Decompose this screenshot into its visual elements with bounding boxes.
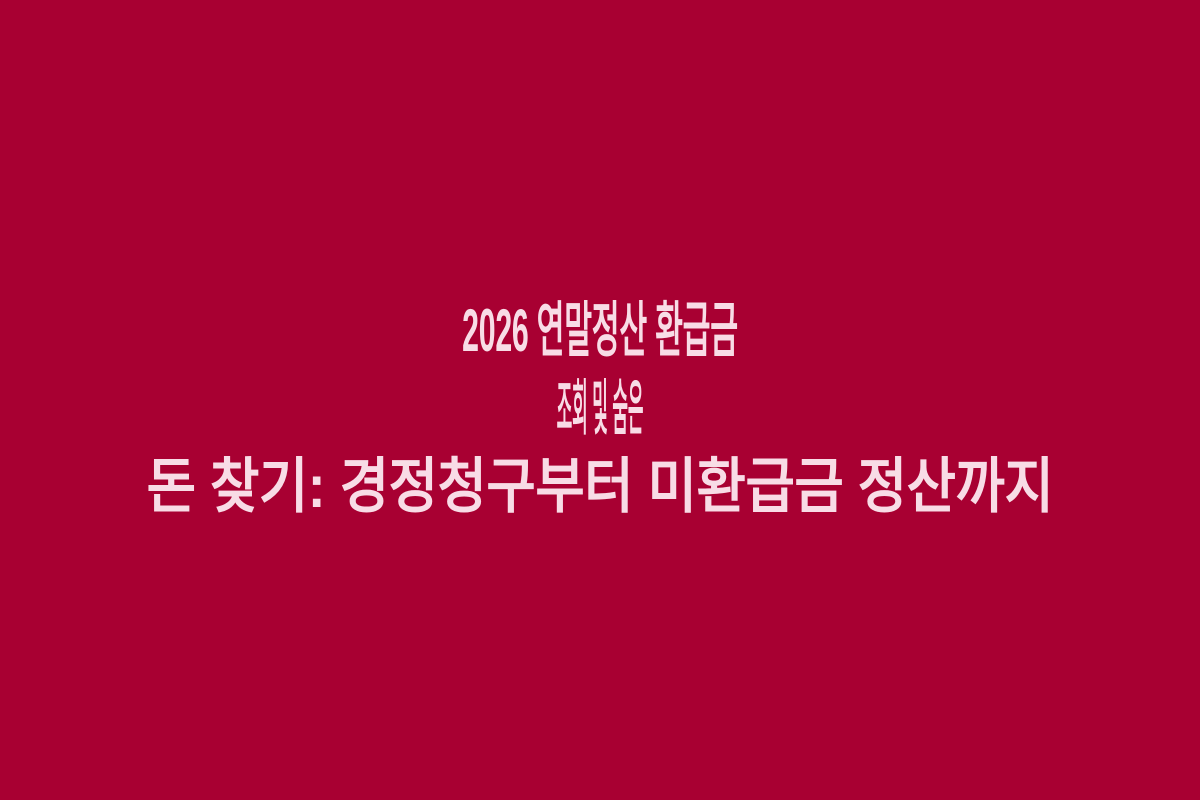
title-banner: 2026 연말정산 환급금 조회 및 숨은 돈 찾기: 경정청구부터 미환급금 …	[0, 0, 1200, 800]
page-title-line-2: 조회 및 숨은	[430, 370, 770, 448]
page-title-line-3: 돈 찾기: 경정청구부터 미환급금 정산까지	[63, 448, 1136, 526]
page-title: 2026 연말정산 환급금 조회 및 숨은 돈 찾기: 경정청구부터 미환급금 …	[0, 292, 1200, 526]
page-title-line-1: 2026 연말정산 환급금	[297, 292, 902, 370]
